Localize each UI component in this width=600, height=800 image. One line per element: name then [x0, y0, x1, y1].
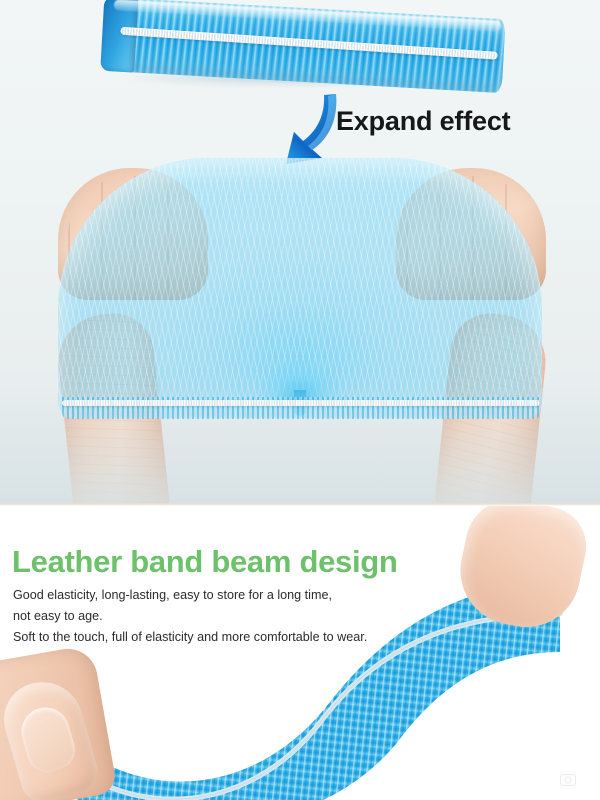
cap-elastic-band [62, 400, 540, 406]
folded-cap-elastic-strip [120, 27, 498, 60]
camera-watermark-icon [560, 772, 576, 788]
feature-heading: Leather band beam design [12, 544, 398, 580]
stretched-cap-mesh [58, 158, 542, 418]
folded-cap-top-edge [114, 0, 502, 32]
hands-stretching-cap-image [0, 150, 600, 504]
expand-effect-label: Expand effect [336, 106, 510, 137]
feature-line-3: Soft to the touch, full of elasticity an… [13, 628, 367, 646]
expand-effect-panel: Expand effect [0, 0, 600, 504]
feature-description: Good elasticity, long-lasting, easy to s… [13, 586, 367, 649]
feature-line-1: Good elasticity, long-lasting, easy to s… [13, 586, 367, 604]
product-feature-page: Expand effect [0, 0, 600, 800]
cap-center-pucker [240, 290, 360, 402]
feature-line-2: not easy to age. [13, 607, 367, 625]
